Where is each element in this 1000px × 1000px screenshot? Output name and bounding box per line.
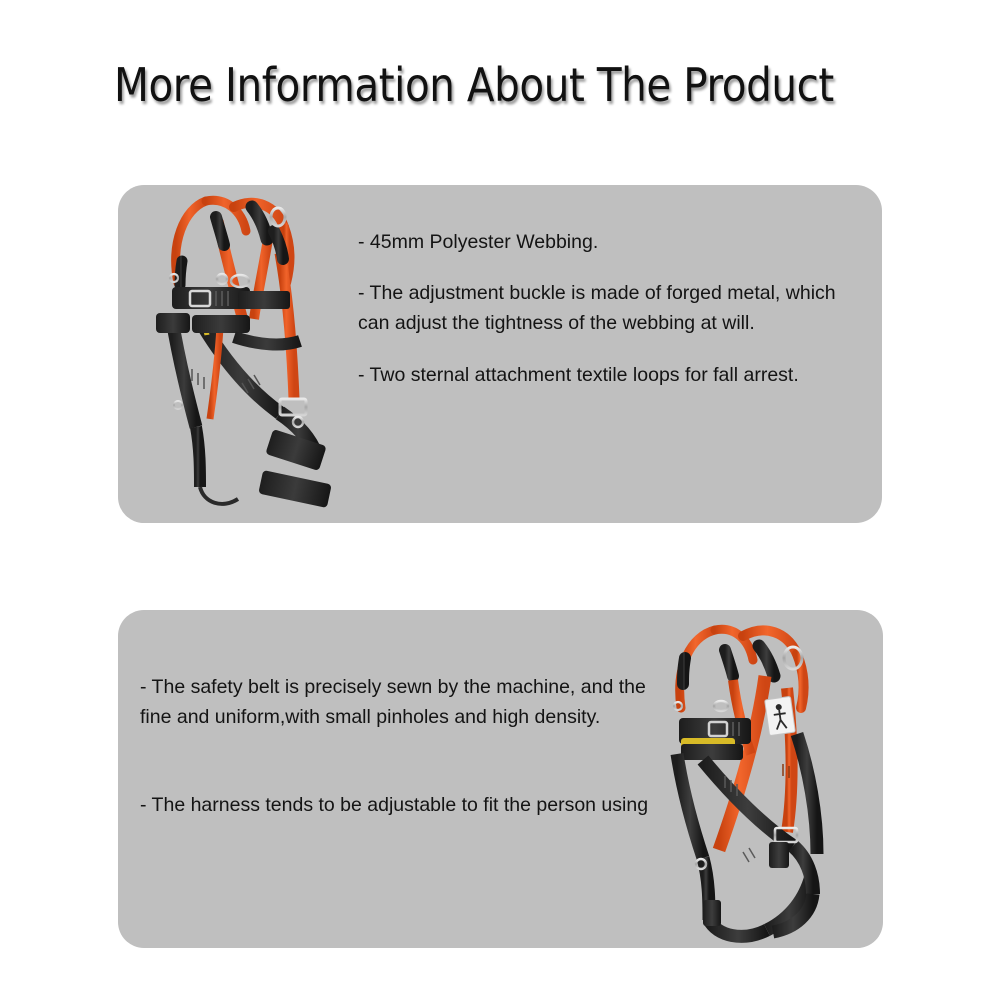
feature-list-2: - The safety belt is precisely sewn by t… <box>140 672 730 821</box>
feature-item: - 45mm Polyester Webbing. <box>358 227 848 257</box>
feature-item: - The safety belt is precisely sewn by t… <box>140 672 730 732</box>
feature-item: - Two sternal attachment textile loops f… <box>358 360 848 390</box>
product-feature-card-1: - 45mm Polyester Webbing. - The adjustme… <box>118 185 882 523</box>
safety-harness-image-1 <box>130 187 358 523</box>
page-title: More Information About The Product <box>114 58 834 112</box>
product-feature-card-2: - The safety belt is precisely sewn by t… <box>118 610 883 948</box>
feature-item: - The harness tends to be adjustable to … <box>140 790 730 820</box>
safety-harness-image-2 <box>647 614 879 948</box>
feature-item: - The adjustment buckle is made of forge… <box>358 278 848 338</box>
feature-list-1: - 45mm Polyester Webbing. - The adjustme… <box>358 227 848 390</box>
